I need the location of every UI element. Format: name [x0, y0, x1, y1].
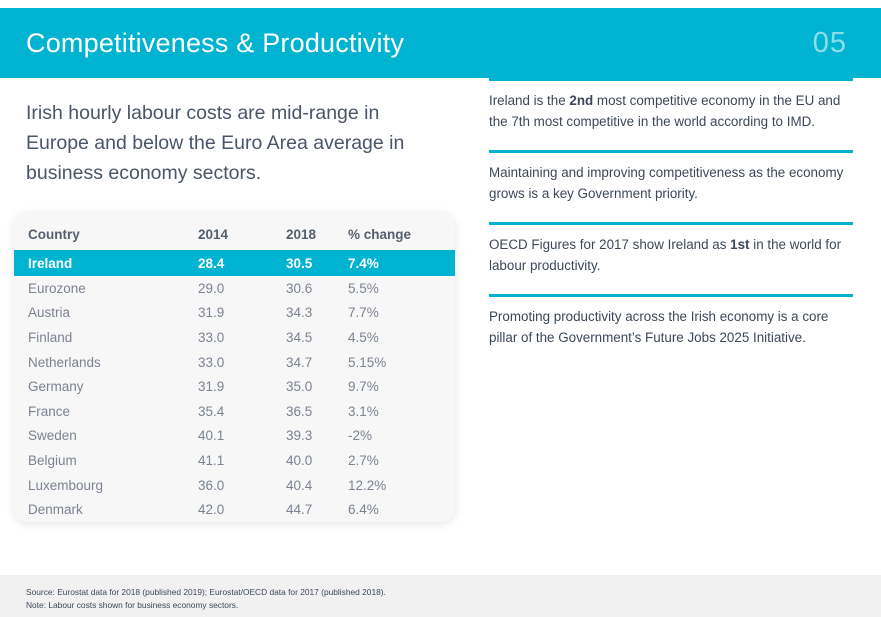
cell-2014: 42.0	[198, 497, 286, 522]
cell-country: Belgium	[14, 448, 198, 473]
fact-text: Promoting productivity across the Irish …	[489, 306, 853, 348]
cell-2014: 33.0	[198, 350, 286, 375]
fact-accent-rule	[489, 150, 853, 153]
left-column: Irish hourly labour costs are mid-range …	[0, 78, 470, 575]
cell-country: Luxembourg	[14, 473, 198, 498]
table-row: Ireland28.430.57.4%	[14, 250, 455, 276]
cell-change: 6.4%	[348, 497, 455, 522]
cell-change: 5.5%	[348, 276, 455, 301]
fact-accent-rule	[489, 222, 853, 225]
table-row: Sweden40.139.3-2%	[14, 424, 455, 449]
footer-band: Source: Eurostat data for 2018 (publishe…	[0, 575, 881, 617]
cell-2014: 31.9	[198, 301, 286, 326]
cell-country: Ireland	[14, 250, 198, 276]
cell-change: 2.7%	[348, 448, 455, 473]
cell-change: 9.7%	[348, 374, 455, 399]
cell-country: Germany	[14, 374, 198, 399]
cell-2018: 34.5	[286, 325, 348, 350]
cell-2014: 33.0	[198, 325, 286, 350]
footer-source: Source: Eurostat data for 2018 (publishe…	[26, 586, 386, 599]
fact-accent-rule	[489, 294, 853, 297]
fact-block: Maintaining and improving competitivenes…	[489, 150, 853, 204]
labour-cost-table-card: Country 2014 2018 % change Ireland28.430…	[14, 212, 455, 522]
slide-body: Irish hourly labour costs are mid-range …	[0, 78, 881, 575]
cell-2018: 40.0	[286, 448, 348, 473]
column-header-change: % change	[348, 212, 455, 250]
cell-2018: 30.5	[286, 250, 348, 276]
labour-cost-table: Country 2014 2018 % change Ireland28.430…	[14, 212, 455, 522]
table-row: Netherlands33.034.75.15%	[14, 350, 455, 375]
table-row: Denmark42.044.76.4%	[14, 497, 455, 522]
cell-2018: 36.5	[286, 399, 348, 424]
fact-block: Promoting productivity across the Irish …	[489, 294, 853, 348]
slide-header-band: Competitiveness & Productivity 05	[0, 8, 881, 78]
table-row: Belgium41.140.02.7%	[14, 448, 455, 473]
column-header-country: Country	[14, 212, 198, 250]
lead-statement: Irish hourly labour costs are mid-range …	[26, 98, 426, 188]
cell-2018: 40.4	[286, 473, 348, 498]
cell-2018: 34.7	[286, 350, 348, 375]
fact-text: Maintaining and improving competitivenes…	[489, 162, 853, 204]
table-row: Luxembourg36.040.412.2%	[14, 473, 455, 498]
cell-2014: 28.4	[198, 250, 286, 276]
page-title: Competitiveness & Productivity	[26, 28, 404, 59]
cell-change: 12.2%	[348, 473, 455, 498]
right-column-facts: Ireland is the 2nd most competitive econ…	[489, 78, 853, 366]
footer-note: Note: Labour costs shown for business ec…	[26, 599, 386, 612]
column-header-2018: 2018	[286, 212, 348, 250]
footer-notes: Source: Eurostat data for 2018 (publishe…	[26, 586, 386, 611]
fact-block: OECD Figures for 2017 show Ireland as 1s…	[489, 222, 853, 276]
cell-2018: 39.3	[286, 424, 348, 449]
cell-country: Denmark	[14, 497, 198, 522]
table-body: Ireland28.430.57.4%Eurozone29.030.65.5%A…	[14, 250, 455, 522]
cell-change: -2%	[348, 424, 455, 449]
fact-text: OECD Figures for 2017 show Ireland as 1s…	[489, 234, 853, 276]
cell-2018: 44.7	[286, 497, 348, 522]
table-row: France35.436.53.1%	[14, 399, 455, 424]
fact-accent-rule	[489, 78, 853, 81]
page-number: 05	[813, 27, 847, 60]
cell-country: Finland	[14, 325, 198, 350]
cell-2018: 35.0	[286, 374, 348, 399]
cell-2018: 34.3	[286, 301, 348, 326]
cell-change: 5.15%	[348, 350, 455, 375]
fact-text: Ireland is the 2nd most competitive econ…	[489, 90, 853, 132]
cell-2018: 30.6	[286, 276, 348, 301]
cell-change: 4.5%	[348, 325, 455, 350]
table-header-row: Country 2014 2018 % change	[14, 212, 455, 250]
cell-change: 7.7%	[348, 301, 455, 326]
table-row: Eurozone29.030.65.5%	[14, 276, 455, 301]
cell-2014: 29.0	[198, 276, 286, 301]
cell-change: 3.1%	[348, 399, 455, 424]
table-row: Austria31.934.37.7%	[14, 301, 455, 326]
cell-country: Austria	[14, 301, 198, 326]
cell-2014: 31.9	[198, 374, 286, 399]
cell-country: France	[14, 399, 198, 424]
cell-2014: 35.4	[198, 399, 286, 424]
cell-2014: 36.0	[198, 473, 286, 498]
cell-country: Netherlands	[14, 350, 198, 375]
cell-country: Eurozone	[14, 276, 198, 301]
cell-change: 7.4%	[348, 250, 455, 276]
table-row: Germany31.935.09.7%	[14, 374, 455, 399]
table-row: Finland33.034.54.5%	[14, 325, 455, 350]
fact-block: Ireland is the 2nd most competitive econ…	[489, 78, 853, 132]
cell-2014: 41.1	[198, 448, 286, 473]
column-header-2014: 2014	[198, 212, 286, 250]
cell-country: Sweden	[14, 424, 198, 449]
cell-2014: 40.1	[198, 424, 286, 449]
